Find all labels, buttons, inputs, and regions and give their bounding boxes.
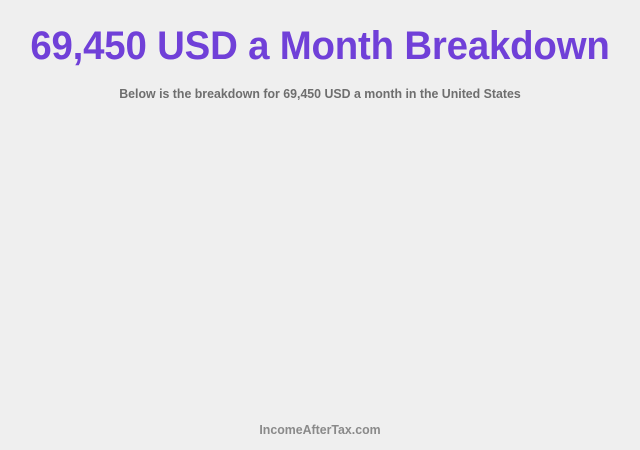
footer-credit: IncomeAfterTax.com [16, 421, 624, 439]
page-subtitle: Below is the breakdown for 69,450 USD a … [16, 85, 624, 103]
page-title: 69,450 USD a Month Breakdown [13, 22, 627, 70]
chart-plot-region [0, 112, 640, 408]
chart-area [0, 112, 640, 408]
breakdown-page: 69,450 USD a Month Breakdown Below is th… [0, 0, 640, 450]
